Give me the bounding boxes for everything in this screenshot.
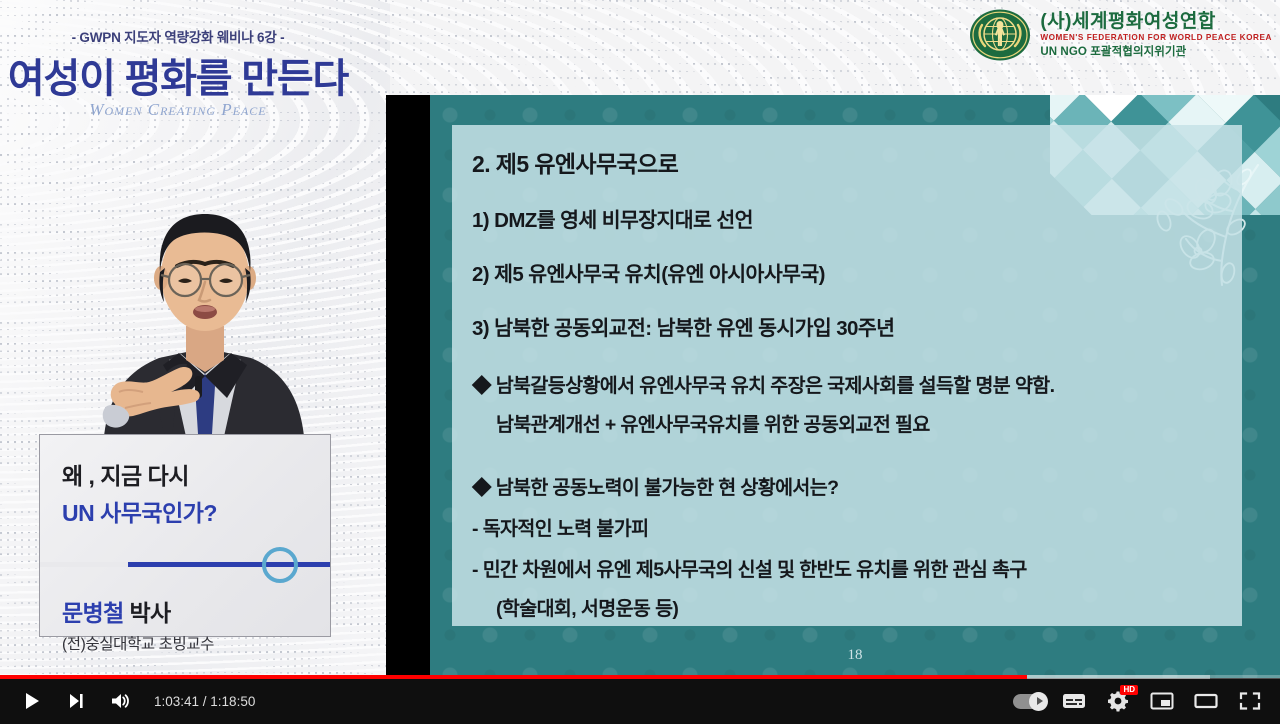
slide-bullet-1: ◆ 남북갈등상황에서 유엔사무국 유치 주장은 국제사회를 설득할 명분 약함. xyxy=(472,369,1224,398)
gear-icon[interactable]: HD xyxy=(1096,678,1140,724)
subtitles-icon[interactable] xyxy=(1052,678,1096,724)
video-player-controls[interactable]: 1:03:41 / 1:18:50 HD xyxy=(0,678,1280,724)
slide-content-panel: 2. 제5 유엔사무국으로 1) DMZ를 영세 비무장지대로 선언 2) 제5… xyxy=(452,125,1242,626)
autoplay-toggle-icon[interactable] xyxy=(1008,678,1052,724)
theater-mode-icon[interactable] xyxy=(1184,678,1228,724)
webinar-title: 여성이 평화를 만든다 xyxy=(0,46,356,104)
slide-dash-2: - 민간 차원에서 유엔 제5사무국의 신설 및 한반도 유치를 위한 관심 촉… xyxy=(472,553,1224,582)
slide-dash-1: - 독자적인 노력 불가피 xyxy=(472,512,1224,541)
presentation-slide-frame: 2. 제5 유엔사무국으로 1) DMZ를 영세 비무장지대로 선언 2) 제5… xyxy=(386,95,1280,678)
slide-bullet-2: ◆ 남북한 공동노력이 불가능한 현 상황에서는? xyxy=(472,471,1224,500)
speaker-affiliation: (전)숭실대학교 초빙교수 xyxy=(62,632,308,654)
logo-ngo-status: UN NGO 포괄적협의지위기관 xyxy=(1040,46,1272,58)
time-display: 1:03:41 / 1:18:50 xyxy=(154,694,255,709)
decorative-rule xyxy=(62,544,308,584)
speaker-info-card: 왜 , 지금 다시 UN 사무국인가? 문병철 박사 (전)숭실대학교 초빙교수 xyxy=(39,434,331,637)
presentation-slide: 2. 제5 유엔사무국으로 1) DMZ를 영세 비무장지대로 선언 2) 제5… xyxy=(430,95,1280,678)
play-icon[interactable] xyxy=(10,678,54,724)
speaker-name: 문병철 박사 xyxy=(62,594,308,628)
fullscreen-icon[interactable] xyxy=(1228,678,1272,724)
slide-item-1: 1) DMZ를 영세 비무장지대로 선언 xyxy=(472,203,1224,233)
rule-bar-gap xyxy=(40,562,128,567)
wfwp-logo: (사)세계평화여성연합 WOMEN'S FEDERATION FOR WORLD… xyxy=(969,8,1272,62)
slide-item-3: 3) 남북한 공동외교전: 남북한 유엔 동시가입 30주년 xyxy=(472,311,1224,341)
speaker-name-bold: 문병철 xyxy=(62,600,124,626)
logo-korean-name: (사)세계평화여성연합 xyxy=(1040,11,1215,32)
volume-high-icon[interactable] xyxy=(98,678,142,724)
speaker-question-line1: 왜 , 지금 다시 xyxy=(62,457,308,491)
rule-ring-icon xyxy=(262,547,298,583)
next-track-icon[interactable] xyxy=(54,678,98,724)
speaker-name-title: 박사 xyxy=(124,600,171,626)
speaker-question-line2: UN 사무국인가? xyxy=(62,494,308,528)
slide-dash-2-continued: (학술대회, 서명운동 등) xyxy=(472,592,1224,621)
webinar-title-english: Women Creating Peace xyxy=(0,100,356,120)
speaker-portrait xyxy=(55,160,355,450)
slide-heading: 2. 제5 유엔사무국으로 xyxy=(472,145,1224,179)
quality-badge: HD xyxy=(1120,685,1138,695)
miniplayer-icon[interactable] xyxy=(1140,678,1184,724)
slide-page-number: 18 xyxy=(430,647,1280,664)
globe-wreath-emblem-icon xyxy=(969,8,1031,62)
slide-bullet-1-continued: 남북관계개선 + 유엔사무국유치를 위한 공동외교전 필요 xyxy=(472,408,1224,437)
logo-english-name: WOMEN'S FEDERATION FOR WORLD PEACE KOREA xyxy=(1040,34,1272,43)
video-stage[interactable]: - GWPN 지도자 역량강화 웨비나 6강 - 여성이 평화를 만든다 Wom… xyxy=(0,0,1280,678)
webinar-subtitle: - GWPN 지도자 역량강화 웨비나 6강 - xyxy=(0,26,356,46)
slide-item-2: 2) 제5 유엔사무국 유치(유엔 아시아사무국) xyxy=(472,257,1224,287)
